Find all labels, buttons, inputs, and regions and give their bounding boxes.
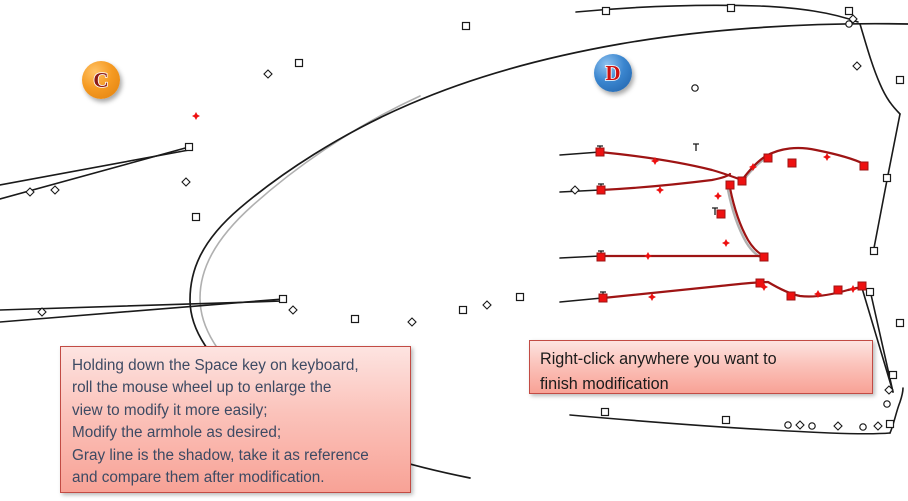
control-point-circle[interactable] xyxy=(809,423,815,429)
edit-point-square[interactable] xyxy=(858,282,866,290)
control-point-square[interactable] xyxy=(723,417,730,424)
edit-point-square[interactable] xyxy=(597,186,605,194)
control-point-square[interactable] xyxy=(890,372,897,379)
instruction-callout-right-text: Right-click anywhere you want to finish … xyxy=(540,347,872,397)
control-point-diamond[interactable] xyxy=(264,70,272,78)
control-point-square[interactable] xyxy=(603,8,610,15)
control-point-diamond[interactable] xyxy=(834,422,842,430)
control-point-diamond[interactable] xyxy=(483,301,491,309)
cursor-marker-cross[interactable] xyxy=(192,112,200,120)
stub-left-1[interactable] xyxy=(560,152,600,155)
control-point-diamond[interactable] xyxy=(408,318,416,326)
edit-point-square[interactable] xyxy=(738,177,746,185)
edit-point-square[interactable] xyxy=(599,294,607,302)
control-point-diamond[interactable] xyxy=(182,178,190,186)
right-edit-curves[interactable] xyxy=(600,148,864,298)
control-point-square[interactable] xyxy=(193,214,200,221)
edit-point-square[interactable] xyxy=(764,154,772,162)
grain-tick-mark xyxy=(693,144,699,151)
control-point-diamond[interactable] xyxy=(571,186,579,194)
control-point-square[interactable] xyxy=(186,144,193,151)
control-point-circle[interactable] xyxy=(785,422,791,428)
control-point-circle[interactable] xyxy=(860,424,866,430)
control-point-diamond[interactable] xyxy=(874,422,882,430)
control-point-square[interactable] xyxy=(602,409,609,416)
control-point-square[interactable] xyxy=(846,8,853,15)
side-seam-mid[interactable] xyxy=(874,180,887,248)
instruction-callout-left-text: Holding down the Space key on keyboard, … xyxy=(72,355,410,489)
red-curve-1-upper-armhole[interactable] xyxy=(600,148,864,180)
side-seam-upper[interactable] xyxy=(887,114,900,180)
edit-point-diamond[interactable] xyxy=(644,252,652,260)
upper-guide-line-b[interactable] xyxy=(0,150,189,185)
control-point-square[interactable] xyxy=(296,60,303,67)
edit-point-diamond[interactable] xyxy=(722,239,730,247)
control-point-square[interactable] xyxy=(871,248,878,255)
edit-point-square[interactable] xyxy=(788,159,796,167)
stub-left-4[interactable] xyxy=(560,298,602,302)
control-point-square[interactable] xyxy=(897,320,904,327)
edit-point-square[interactable] xyxy=(596,148,604,156)
edit-point-square[interactable] xyxy=(726,181,734,189)
control-point-square[interactable] xyxy=(897,77,904,84)
edit-point-diamond[interactable] xyxy=(656,186,664,194)
stub-left-2[interactable] xyxy=(560,190,600,192)
control-point-square[interactable] xyxy=(352,316,359,323)
shoulder-top-edge[interactable] xyxy=(576,5,858,22)
control-point-square[interactable] xyxy=(887,421,894,428)
edit-point-square[interactable] xyxy=(860,162,868,170)
control-point-square[interactable] xyxy=(280,296,287,303)
instruction-callout-left: Holding down the Space key on keyboard, … xyxy=(60,346,411,493)
control-point-square[interactable] xyxy=(867,289,874,296)
control-point-circle[interactable] xyxy=(692,85,698,91)
edit-point-square[interactable] xyxy=(834,286,842,294)
step-badge-d-label: D xyxy=(605,63,620,84)
instruction-callout-right: Right-click anywhere you want to finish … xyxy=(529,340,873,394)
edit-point-square[interactable] xyxy=(717,210,725,218)
control-point-square[interactable] xyxy=(463,23,470,30)
control-point-diamond[interactable] xyxy=(853,62,861,70)
stub-left-3[interactable] xyxy=(560,256,600,258)
left-guide-lines xyxy=(0,147,283,322)
control-point-diamond[interactable] xyxy=(289,306,297,314)
pattern-canvas[interactable]: C D Holding down the Space key on keyboa… xyxy=(0,0,908,501)
control-point-square[interactable] xyxy=(460,307,467,314)
red-curve-3-side-hook[interactable] xyxy=(730,188,764,256)
control-point-circle[interactable] xyxy=(884,401,890,407)
control-point-square[interactable] xyxy=(728,5,735,12)
edit-point-square[interactable] xyxy=(787,292,795,300)
control-point-diamond[interactable] xyxy=(796,421,804,429)
edit-point-diamond[interactable] xyxy=(849,285,857,293)
red-curve-5-hip[interactable] xyxy=(603,282,862,298)
right-edit-points[interactable] xyxy=(596,148,868,302)
neck-curve[interactable] xyxy=(860,24,900,114)
red-curve-2[interactable] xyxy=(601,174,730,190)
edit-point-diamond[interactable] xyxy=(823,153,831,161)
step-badge-c: C xyxy=(82,61,120,99)
edit-point-diamond[interactable] xyxy=(714,192,722,200)
step-badge-c-label: C xyxy=(93,70,108,91)
step-badge-d: D xyxy=(594,54,632,92)
control-point-square[interactable] xyxy=(884,175,891,182)
edit-point-square[interactable] xyxy=(760,253,768,261)
control-point-square[interactable] xyxy=(517,294,524,301)
control-point-diamond[interactable] xyxy=(51,186,59,194)
edit-point-square[interactable] xyxy=(597,253,605,261)
